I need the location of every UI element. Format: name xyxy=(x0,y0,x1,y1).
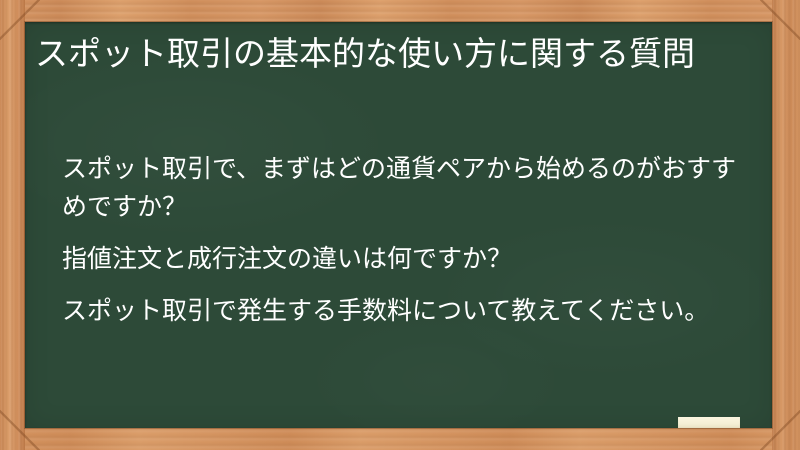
frame-rail-right xyxy=(772,0,800,450)
frame-rail-bottom xyxy=(0,428,800,450)
frame-rail-top xyxy=(0,0,800,22)
chalk-stick-icon xyxy=(678,417,740,428)
question-item: 指値注文と成行注文の違いは何ですか？ xyxy=(62,240,752,278)
chalkboard-surface: スポット取引の基本的な使い方に関する質問 スポット取引で、まずはどの通貨ペアから… xyxy=(25,22,772,428)
chalkboard-slide: スポット取引の基本的な使い方に関する質問 スポット取引で、まずはどの通貨ペアから… xyxy=(0,0,800,450)
frame-rail-left xyxy=(0,0,25,450)
slide-title: スポット取引の基本的な使い方に関する質問 xyxy=(35,30,745,77)
question-item: スポット取引で、まずはどの通貨ペアから始めるのがおすすめですか？ xyxy=(62,150,752,226)
question-list: スポット取引で、まずはどの通貨ペアから始めるのがおすすめですか？ 指値注文と成行… xyxy=(62,150,752,330)
question-item: スポット取引で発生する手数料について教えてください。 xyxy=(62,292,752,330)
